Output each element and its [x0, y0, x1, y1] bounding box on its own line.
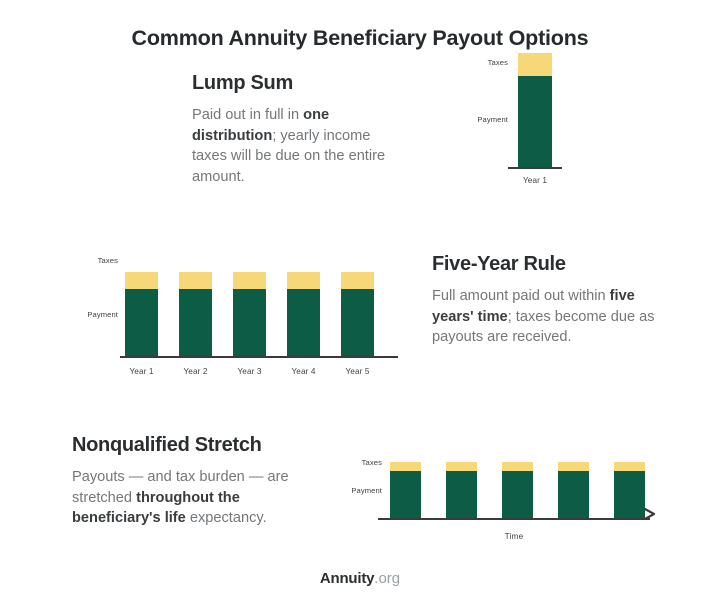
- bar-segment-payment: [287, 289, 320, 356]
- series-label-payment: Payment: [60, 310, 118, 319]
- series-label-payment: Payment: [324, 486, 382, 495]
- section-body-lump-sum: Paid out in full in one distribution; ye…: [192, 105, 407, 187]
- bar-segment-taxes: [518, 53, 552, 76]
- series-label-taxes: Taxes: [60, 256, 118, 265]
- bar-segment-taxes: [614, 462, 645, 471]
- bars-container: [390, 462, 645, 518]
- logo-tld-text: .org: [374, 570, 400, 587]
- bar-segment-payment: [390, 471, 421, 518]
- stacked-bar: [446, 462, 477, 518]
- bar-segment-taxes: [179, 272, 212, 289]
- page-title: Common Annuity Beneficiary Payout Option…: [0, 26, 720, 51]
- tick-label-3: Year 3: [233, 367, 266, 376]
- bar-segment-taxes: [558, 462, 589, 471]
- stacked-bar: [390, 462, 421, 518]
- arrow-right-icon: [642, 506, 658, 527]
- tick-label-year-1: Year 1: [508, 176, 562, 185]
- axis-baseline: [120, 356, 398, 359]
- bar-segment-payment: [341, 289, 374, 356]
- footer-logo: Annuity.org: [0, 570, 720, 587]
- axis-caption-time: Time: [378, 532, 650, 541]
- infographic-canvas: Common Annuity Beneficiary Payout Option…: [0, 0, 720, 610]
- section-heading-five-year-rule: Five-Year Rule: [432, 253, 664, 276]
- bar-segment-taxes: [446, 462, 477, 471]
- series-label-taxes: Taxes: [440, 58, 508, 67]
- bars-container: [125, 272, 374, 356]
- chart-nonqualified-stretch: Taxes Payment Time: [330, 450, 670, 545]
- bar-segment-payment: [446, 471, 477, 518]
- tick-label-1: Year 1: [125, 367, 158, 376]
- chart-five-year-rule: Taxes Payment Year 1Year 2Year 3Year 4Ye…: [60, 252, 410, 380]
- tick-label-4: Year 4: [287, 367, 320, 376]
- bar-segment-taxes: [125, 272, 158, 289]
- series-label-taxes: Taxes: [330, 458, 382, 467]
- section-five-year-rule: Five-Year Rule Full amount paid out with…: [432, 253, 664, 348]
- chart-lump-sum: Taxes Payment Year 1: [440, 55, 620, 195]
- stacked-bar: [287, 272, 320, 356]
- bar-segment-taxes: [341, 272, 374, 289]
- stacked-bar: [341, 272, 374, 356]
- bar-segment-payment: [179, 289, 212, 356]
- bar-segment-payment: [233, 289, 266, 356]
- section-lump-sum: Lump Sum Paid out in full in one distrib…: [192, 72, 407, 187]
- axis-baseline: [378, 518, 650, 521]
- bar-segment-payment: [518, 76, 552, 167]
- section-body-five-year-rule: Full amount paid out within five years' …: [432, 286, 664, 348]
- stacked-bar: [518, 53, 552, 167]
- bar-segment-taxes: [233, 272, 266, 289]
- axis-baseline: [508, 167, 562, 170]
- section-heading-lump-sum: Lump Sum: [192, 72, 407, 95]
- bar-segment-payment: [125, 289, 158, 356]
- bar-segment-taxes: [390, 462, 421, 471]
- stacked-bar: [614, 462, 645, 518]
- stacked-bar: [233, 272, 266, 356]
- stacked-bar: [179, 272, 212, 356]
- tick-label-2: Year 2: [179, 367, 212, 376]
- bar-segment-taxes: [287, 272, 320, 289]
- bar-segment-taxes: [502, 462, 533, 471]
- series-label-payment: Payment: [440, 115, 508, 124]
- bar-segment-payment: [502, 471, 533, 518]
- bar-segment-payment: [558, 471, 589, 518]
- bars-container: [518, 53, 552, 167]
- section-nonqualified-stretch: Nonqualified Stretch Payouts — and tax b…: [72, 434, 302, 529]
- stacked-bar: [558, 462, 589, 518]
- bar-segment-payment: [614, 471, 645, 518]
- stacked-bar: [125, 272, 158, 356]
- section-body-nonqualified-stretch: Payouts — and tax burden — are stretched…: [72, 467, 302, 529]
- tick-labels: Year 1Year 2Year 3Year 4Year 5: [125, 367, 374, 376]
- stacked-bar: [502, 462, 533, 518]
- tick-label-5: Year 5: [341, 367, 374, 376]
- logo-brand-text: Annuity: [320, 570, 374, 587]
- section-heading-nonqualified-stretch: Nonqualified Stretch: [72, 434, 302, 457]
